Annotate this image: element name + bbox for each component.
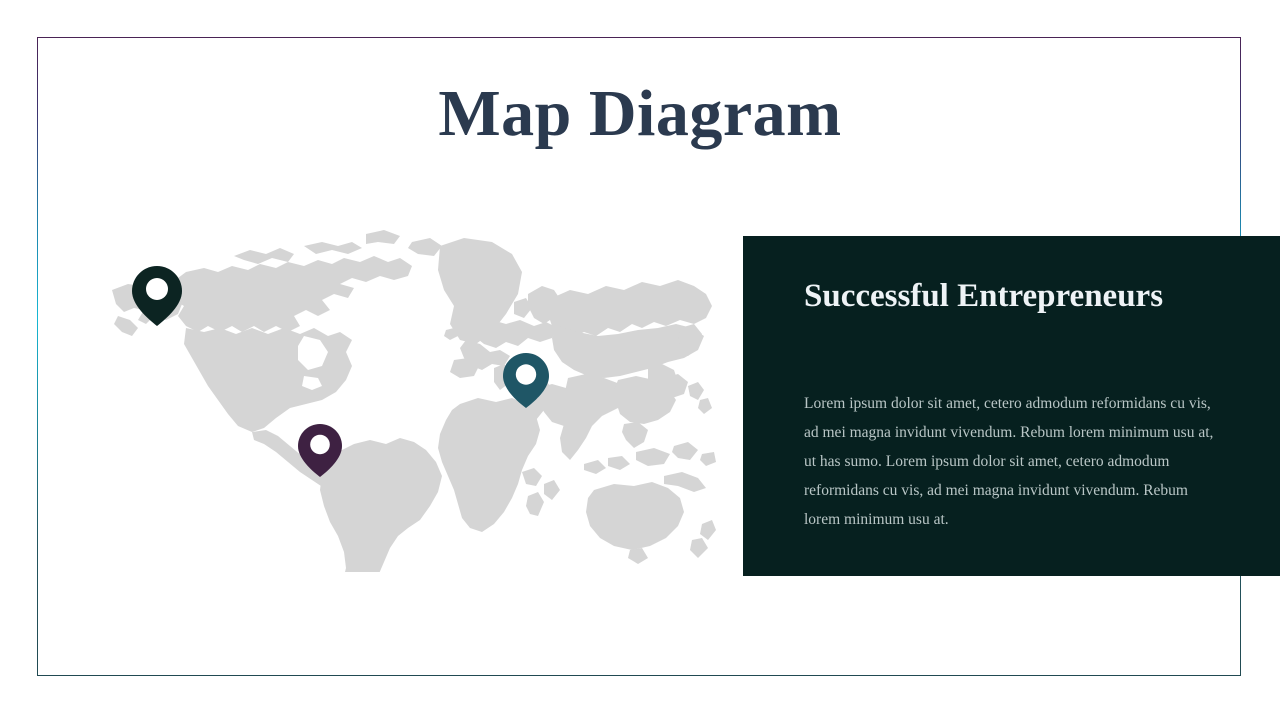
panel-heading: Successful Entrepreneurs	[804, 273, 1224, 319]
map-pin-asia[interactable]	[502, 352, 550, 409]
page-title: Map Diagram	[0, 75, 1280, 153]
map-landmasses	[112, 230, 716, 572]
info-panel: Successful Entrepreneurs Lorem ipsum dol…	[743, 236, 1280, 576]
world-map	[108, 228, 716, 572]
map-pin-south-america[interactable]	[297, 423, 343, 478]
slide-canvas: Map Diagram	[0, 0, 1280, 720]
panel-body-text: Lorem ipsum dolor sit amet, cetero admod…	[804, 389, 1222, 534]
map-pin-north-america[interactable]	[131, 265, 183, 327]
